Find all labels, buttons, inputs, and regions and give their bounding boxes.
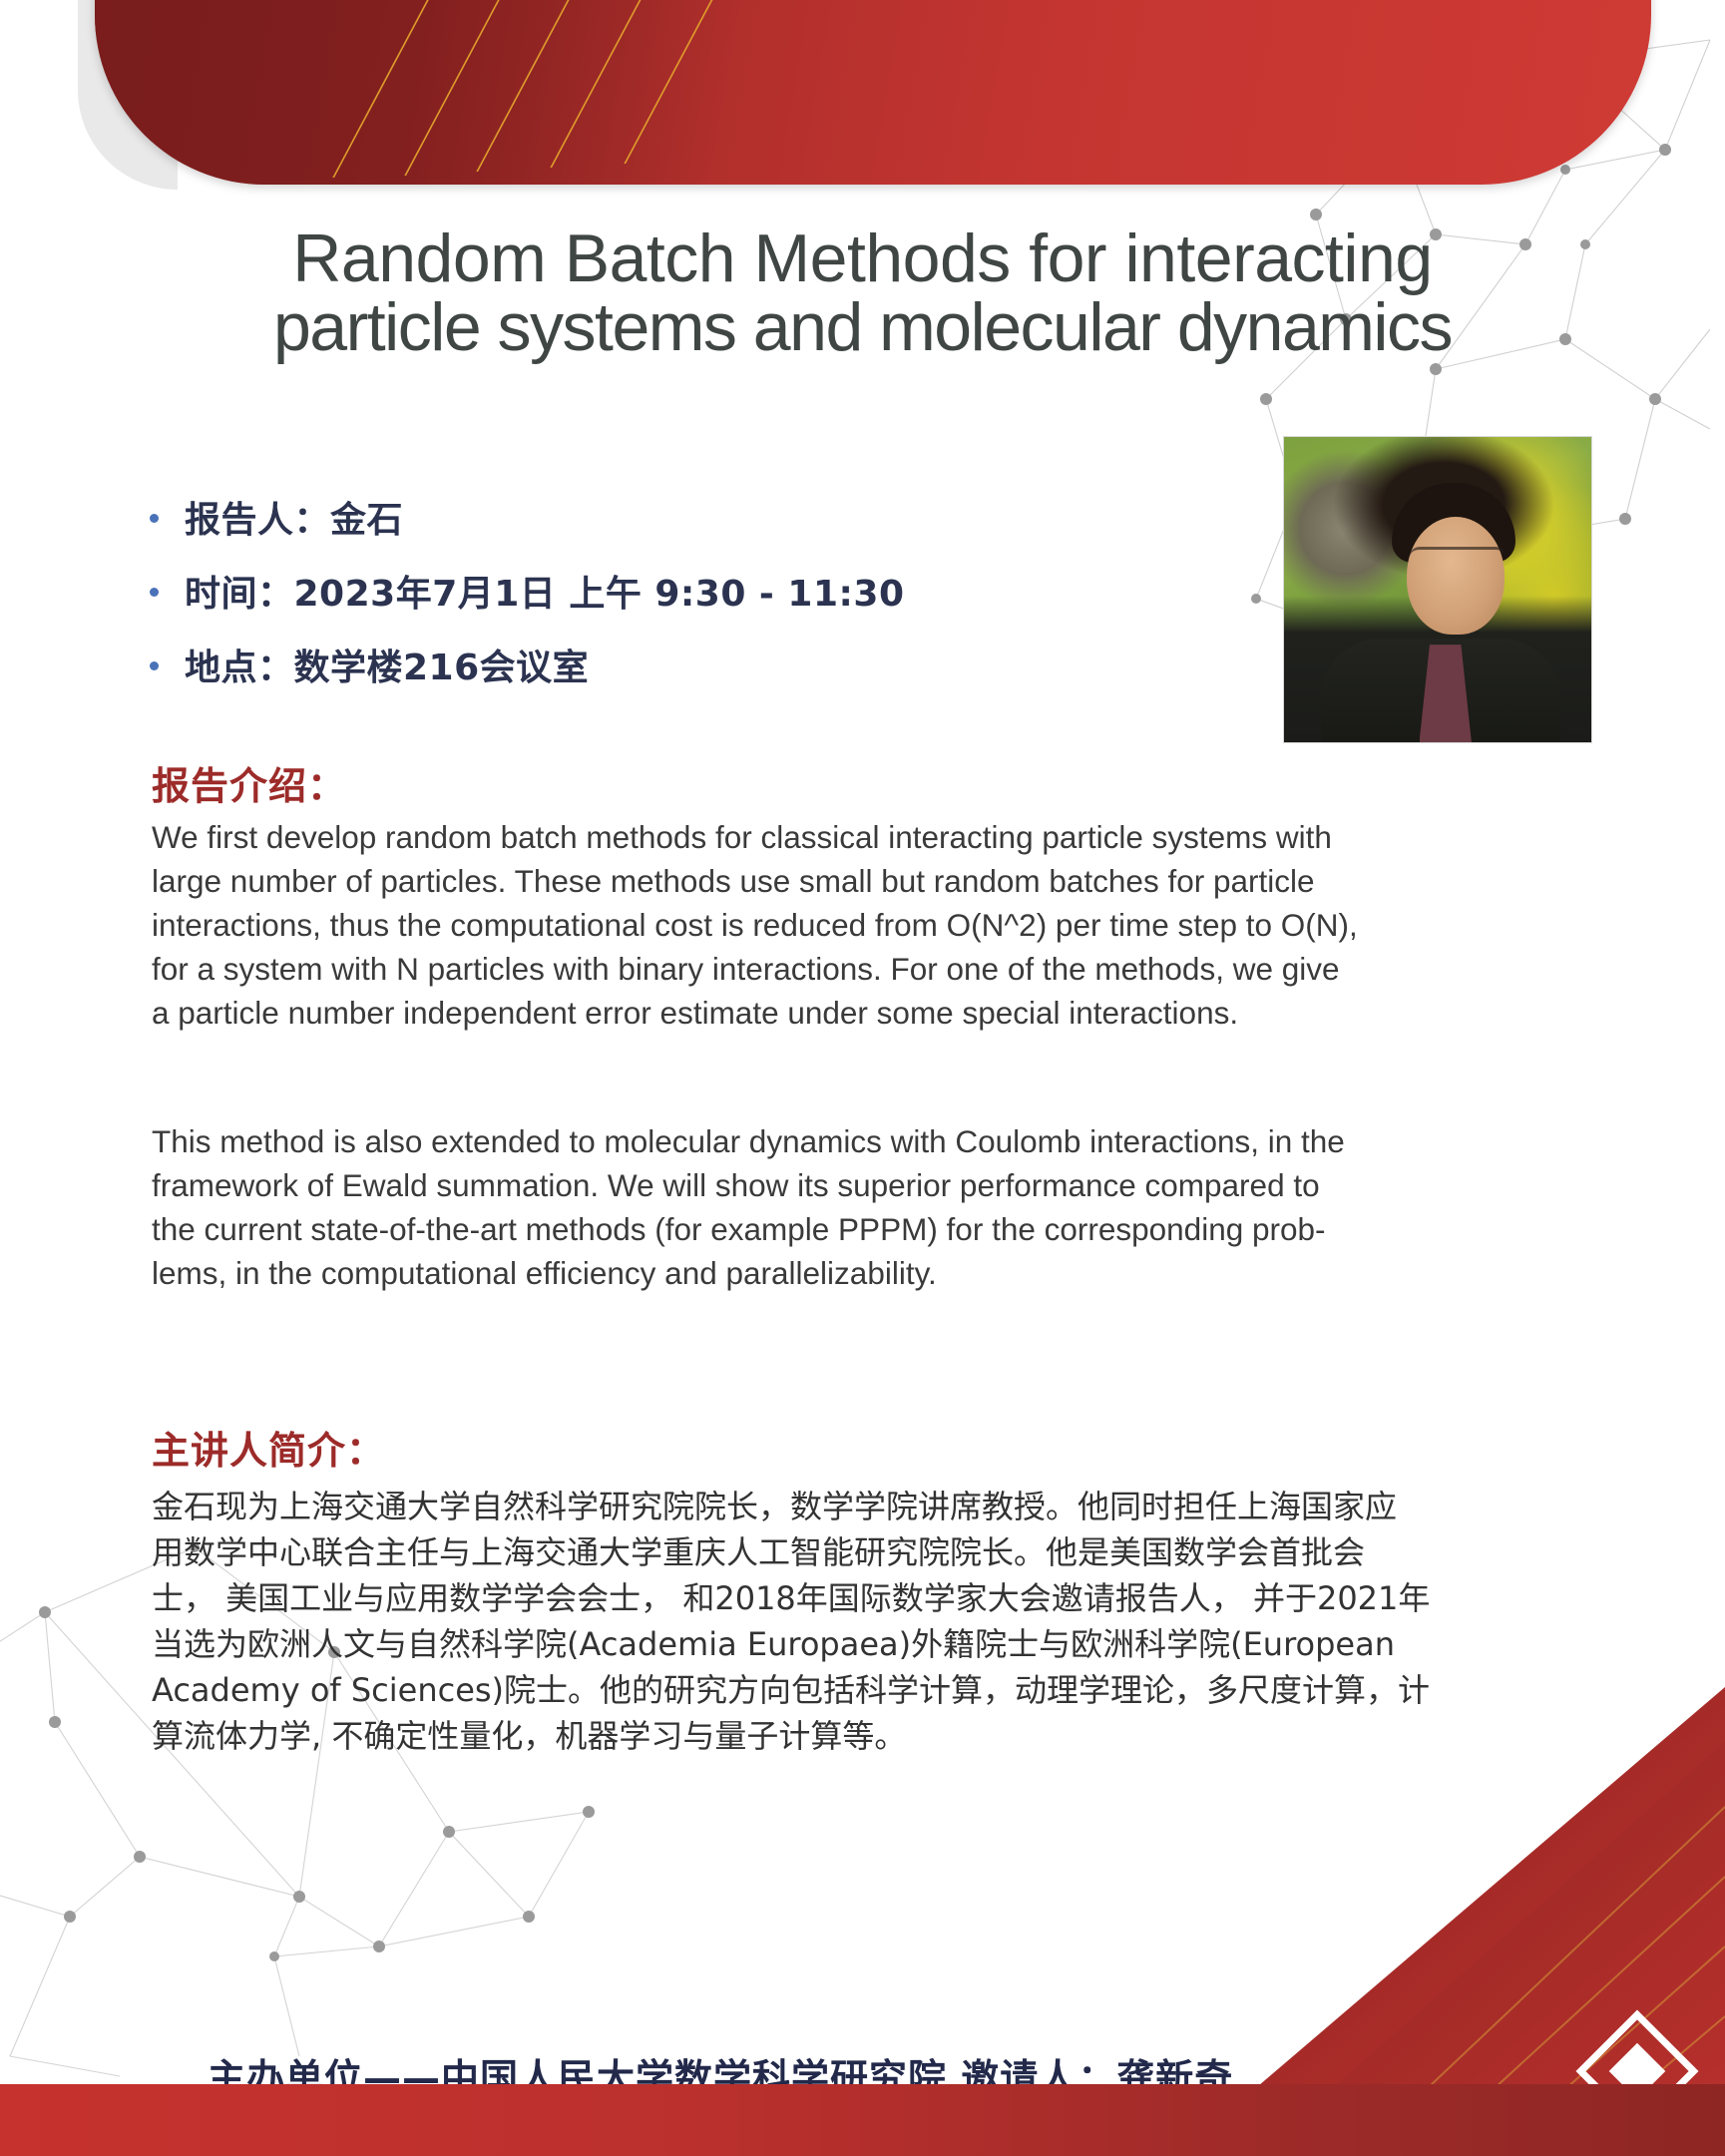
poster-title: Random Batch Methods for interacting par… xyxy=(0,224,1725,363)
abstract-p2-line-2: framework of Ewald summation. We will sh… xyxy=(152,1163,1548,1207)
poster-title-line-2: particle systems and molecular dynamics xyxy=(70,293,1655,362)
bio-line-3: 士， 美国工业与应用数学学会会士， 和2018年国际数学家大会邀请报告人， 并于… xyxy=(152,1575,1548,1621)
portrait-face xyxy=(1407,517,1505,635)
detail-speaker: 报告人：金石 xyxy=(185,499,403,543)
abstract-p1-line-1: We first develop random batch methods fo… xyxy=(152,815,1548,859)
bio-line-2: 用数学中心联合主任与上海交通大学重庆人工智能研究院院长。他是美国数学会首批会 xyxy=(152,1529,1548,1575)
abstract-p2-line-4: lems, in the computational efficiency an… xyxy=(152,1251,1548,1295)
speaker-portrait xyxy=(1283,436,1592,743)
header-banner xyxy=(95,0,1651,185)
list-item: 地点：数学楼216会议室 xyxy=(150,647,1207,690)
bullet-dot-icon xyxy=(150,661,159,670)
abstract-p1-line-5: a particle number independent error esti… xyxy=(152,991,1548,1035)
bio-paragraph: 金石现为上海交通大学自然科学研究院院长，数学学院讲席教授。他同时担任上海国家应 … xyxy=(152,1484,1548,1759)
detail-location: 地点：数学楼216会议室 xyxy=(185,647,589,690)
abstract-p1-line-3: interactions, thus the computational cos… xyxy=(152,903,1548,947)
event-details-list: 报告人：金石 时间：2023年7月1日 上午 9:30 - 11:30 地点：数… xyxy=(150,499,1207,720)
abstract-p2-line-3: the current state-of-the-art methods (fo… xyxy=(152,1207,1548,1251)
abstract-p2-line-1: This method is also extended to molecula… xyxy=(152,1119,1548,1163)
list-item: 时间：2023年7月1日 上午 9:30 - 11:30 xyxy=(150,573,1207,617)
abstract-heading: 报告介绍： xyxy=(152,755,346,810)
glasses-icon xyxy=(1410,547,1506,567)
bio-line-6: 算流体力学, 不确定性量化，机器学习与量子计算等。 xyxy=(152,1713,1548,1759)
abstract-paragraph-1: We first develop random batch methods fo… xyxy=(152,815,1548,1035)
footer-red-band xyxy=(0,2084,1725,2156)
abstract-p1-line-4: for a system with N particles with binar… xyxy=(152,947,1548,991)
bullet-dot-icon xyxy=(150,514,159,523)
bullet-dot-icon xyxy=(150,588,159,597)
bio-line-5: Academy of Sciences)院士。他的研究方向包括科学计算，动理学理… xyxy=(152,1667,1548,1713)
detail-time: 时间：2023年7月1日 上午 9:30 - 11:30 xyxy=(185,573,905,617)
bio-line-4: 当选为欧洲人文与自然科学院(Academia Europaea)外籍院士与欧洲科… xyxy=(152,1621,1548,1667)
bio-heading: 主讲人简介： xyxy=(152,1420,385,1475)
abstract-paragraph-2: This method is also extended to molecula… xyxy=(152,1119,1548,1295)
poster-title-line-1: Random Batch Methods for interacting xyxy=(70,224,1655,293)
abstract-p1-line-2: large number of particles. These methods… xyxy=(152,859,1548,903)
list-item: 报告人：金石 xyxy=(150,499,1207,543)
bio-line-1: 金石现为上海交通大学自然科学研究院院长，数学学院讲席教授。他同时担任上海国家应 xyxy=(152,1484,1548,1529)
